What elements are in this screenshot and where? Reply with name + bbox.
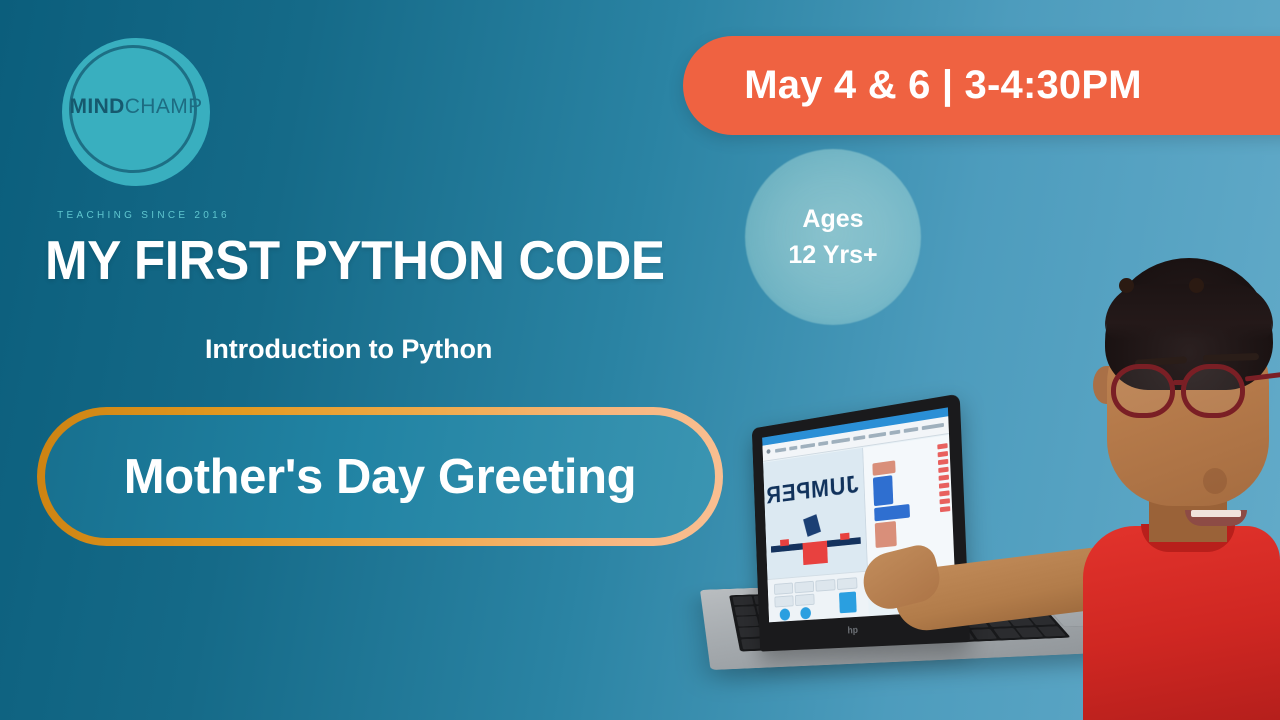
- course-pill: Mother's Day Greeting: [37, 407, 723, 546]
- student-nose: [1203, 468, 1227, 494]
- course-pill-label: Mother's Day Greeting: [124, 449, 636, 505]
- glasses-lens-right: [1181, 364, 1245, 418]
- laptop-brand-logo: hp: [845, 624, 860, 637]
- logo-wordmark: MINDCHAMP: [62, 95, 210, 119]
- student-photo: [1075, 258, 1280, 720]
- page-subtitle: Introduction to Python: [205, 334, 492, 365]
- ages-label-line2: 12 Yrs+: [788, 239, 877, 272]
- screen-block-palette: [767, 571, 868, 623]
- student-shirt: [1083, 526, 1280, 720]
- game-player: [803, 514, 821, 537]
- game-spike: [780, 539, 789, 546]
- game-pit: [803, 541, 828, 565]
- student-eye-left: [1119, 278, 1134, 293]
- glasses-temple: [1245, 371, 1280, 381]
- course-pill-inner: Mother's Day Greeting: [45, 415, 715, 538]
- code-lines: [937, 443, 950, 515]
- date-banner: May 4 & 6 | 3-4:30PM: [683, 36, 1280, 135]
- screen-game-title: JUMPER: [768, 469, 859, 509]
- glasses-bridge: [1173, 380, 1185, 385]
- logo-tagline: TEACHING SINCE 2016: [46, 210, 241, 221]
- student-eye-right: [1189, 278, 1204, 293]
- glasses-lens-left: [1111, 364, 1175, 418]
- date-banner-label: May 4 & 6 | 3-4:30PM: [683, 36, 1203, 135]
- game-spike: [840, 533, 850, 541]
- ages-badge: Ages 12 Yrs+: [745, 149, 921, 325]
- student-glasses: [1103, 364, 1279, 420]
- brand-logo: MINDCHAMP TEACHING SINCE 2016: [46, 38, 236, 198]
- logo-wordmark-bold: MIND: [69, 95, 124, 118]
- screen-game-stage: JUMPER: [763, 448, 867, 579]
- student-fringe: [1105, 284, 1273, 340]
- student-teeth: [1191, 510, 1241, 517]
- logo-wordmark-light: CHAMP: [125, 95, 203, 118]
- page-title: MY FIRST PYTHON CODE: [45, 228, 665, 292]
- ages-label-line1: Ages: [802, 203, 863, 236]
- promo-poster: MINDCHAMP TEACHING SINCE 2016 May 4 & 6 …: [0, 0, 1280, 720]
